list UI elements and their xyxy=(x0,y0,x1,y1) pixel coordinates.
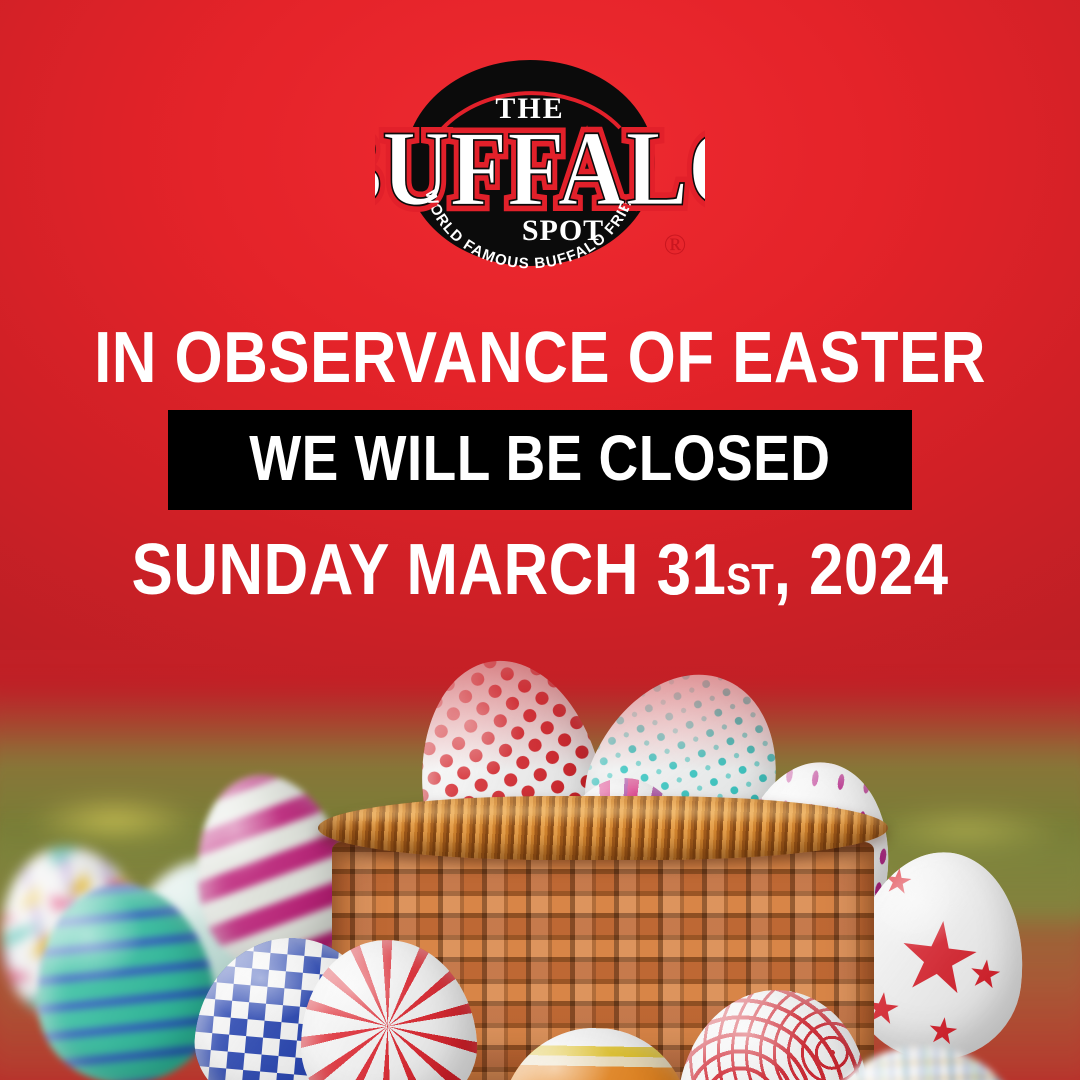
announcement-line-2: WE WILL BE CLOSED xyxy=(249,426,830,490)
closed-banner: WE WILL BE CLOSED xyxy=(168,410,912,510)
basket-rim xyxy=(318,796,888,860)
star-icon: ★ xyxy=(925,1011,961,1051)
easter-eggs-photo: ★ ★ ★ ★ ★ xyxy=(0,650,1080,1080)
easter-closure-announcement-poster: ★ ★ ★ ★ ★ xyxy=(0,0,1080,1080)
registered-trademark-icon: ® xyxy=(664,228,687,261)
announcement-date-year: , 2024 xyxy=(774,530,949,610)
announcement-line-3: SUNDAY MARCH 31ST, 2024 xyxy=(76,534,1005,606)
announcement-date-prefix: SUNDAY MARCH 31 xyxy=(131,530,726,610)
logo-svg: THE BUFFALO BUFFALO SPOT WORLD FAMOUS BU… xyxy=(375,58,705,288)
basket-rim-highlight xyxy=(348,806,848,826)
announcement-line-1: IN OBSERVANCE OF EASTER xyxy=(76,322,1005,394)
announcement-text-block: IN OBSERVANCE OF EASTER WE WILL BE CLOSE… xyxy=(0,322,1080,606)
star-icon: ★ xyxy=(966,954,1004,996)
announcement-date-ordinal-suffix: ST xyxy=(726,556,773,604)
buffalo-spot-logo: THE BUFFALO BUFFALO SPOT WORLD FAMOUS BU… xyxy=(375,58,705,288)
